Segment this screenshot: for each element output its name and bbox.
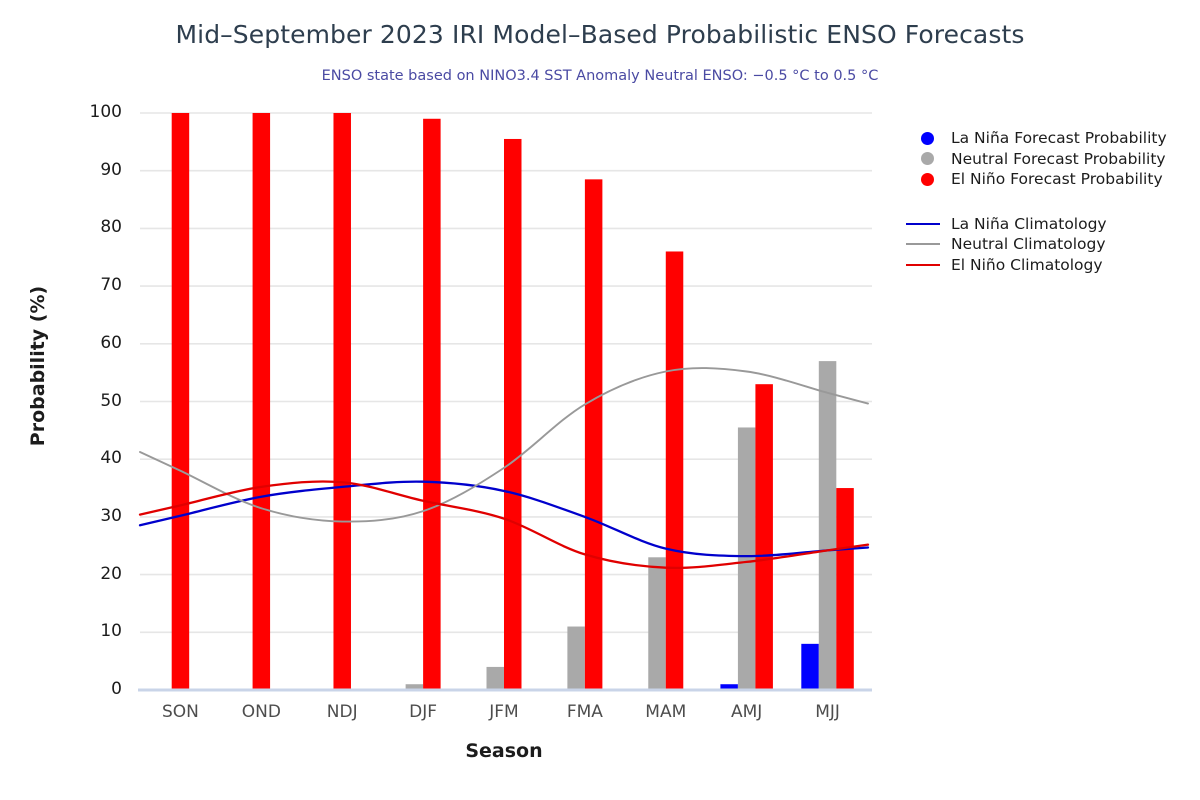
y-tick-label: 100	[62, 102, 122, 122]
bar	[423, 119, 441, 690]
legend-label: La Niña Climatology	[951, 215, 1107, 233]
bar	[172, 113, 190, 690]
y-tick-label: 50	[62, 391, 122, 411]
legend-swatch	[906, 243, 940, 245]
legend-swatch	[921, 173, 934, 186]
x-tick-label: MAM	[626, 702, 706, 722]
y-tick-label: 60	[62, 333, 122, 353]
legend-swatch	[921, 152, 934, 165]
legend-dot-icon	[900, 173, 945, 186]
legend-label: El Niño Climatology	[951, 256, 1103, 274]
y-tick-label: 20	[62, 564, 122, 584]
y-tick-label: 30	[62, 506, 122, 526]
legend-line-icon	[900, 243, 945, 245]
y-tick-label: 10	[62, 621, 122, 641]
bar	[801, 644, 819, 690]
legend-swatch	[906, 223, 940, 225]
x-axis-label: Season	[140, 740, 868, 762]
legend-dot-icon	[900, 132, 945, 145]
y-tick-label: 0	[62, 679, 122, 699]
legend-label: Neutral Climatology	[951, 235, 1106, 253]
legend-label: El Niño Forecast Probability	[951, 170, 1163, 188]
legend-swatch	[921, 132, 934, 145]
y-axis-label: Probability (%)	[27, 266, 49, 466]
x-tick-label: MJJ	[788, 702, 868, 722]
bar	[333, 113, 351, 690]
bar	[585, 179, 603, 690]
bar	[819, 361, 837, 690]
y-tick-label: 70	[62, 275, 122, 295]
enso-forecast-chart: Mid–September 2023 IRI Model–Based Proba…	[0, 0, 1200, 800]
x-tick-label: SON	[140, 702, 220, 722]
legend-label: La Niña Forecast Probability	[951, 129, 1167, 147]
y-tick-label: 80	[62, 217, 122, 237]
bar	[755, 384, 773, 690]
bar	[666, 251, 684, 690]
bar	[738, 427, 756, 690]
x-tick-label: FMA	[545, 702, 625, 722]
legend-line-icon	[900, 264, 945, 266]
legend-line-icon	[900, 223, 945, 225]
legend-label: Neutral Forecast Probability	[951, 150, 1166, 168]
bar	[253, 113, 270, 690]
legend-dot-icon	[900, 152, 945, 165]
y-tick-label: 40	[62, 448, 122, 468]
bar	[836, 488, 854, 690]
x-tick-label: OND	[221, 702, 301, 722]
legend-item[interactable]: La Niña Climatology	[900, 214, 1190, 235]
legend-item[interactable]: Neutral Climatology	[900, 234, 1190, 255]
x-tick-label: AMJ	[707, 702, 787, 722]
legend-item[interactable]: El Niño Climatology	[900, 255, 1190, 276]
y-tick-label: 90	[62, 160, 122, 180]
chart-legend: La Niña Forecast ProbabilityNeutral Fore…	[900, 128, 1190, 275]
x-tick-label: JFM	[464, 702, 544, 722]
legend-spacer	[900, 190, 1190, 214]
plot-area	[0, 0, 1200, 800]
bar	[487, 667, 505, 690]
bar	[648, 557, 666, 690]
x-tick-label: NDJ	[302, 702, 382, 722]
x-tick-label: DJF	[383, 702, 463, 722]
legend-item[interactable]: La Niña Forecast Probability	[900, 128, 1190, 149]
legend-item[interactable]: El Niño Forecast Probability	[900, 169, 1190, 190]
legend-swatch	[906, 264, 940, 266]
legend-item[interactable]: Neutral Forecast Probability	[900, 149, 1190, 170]
bar	[504, 139, 522, 690]
bar	[567, 627, 585, 690]
